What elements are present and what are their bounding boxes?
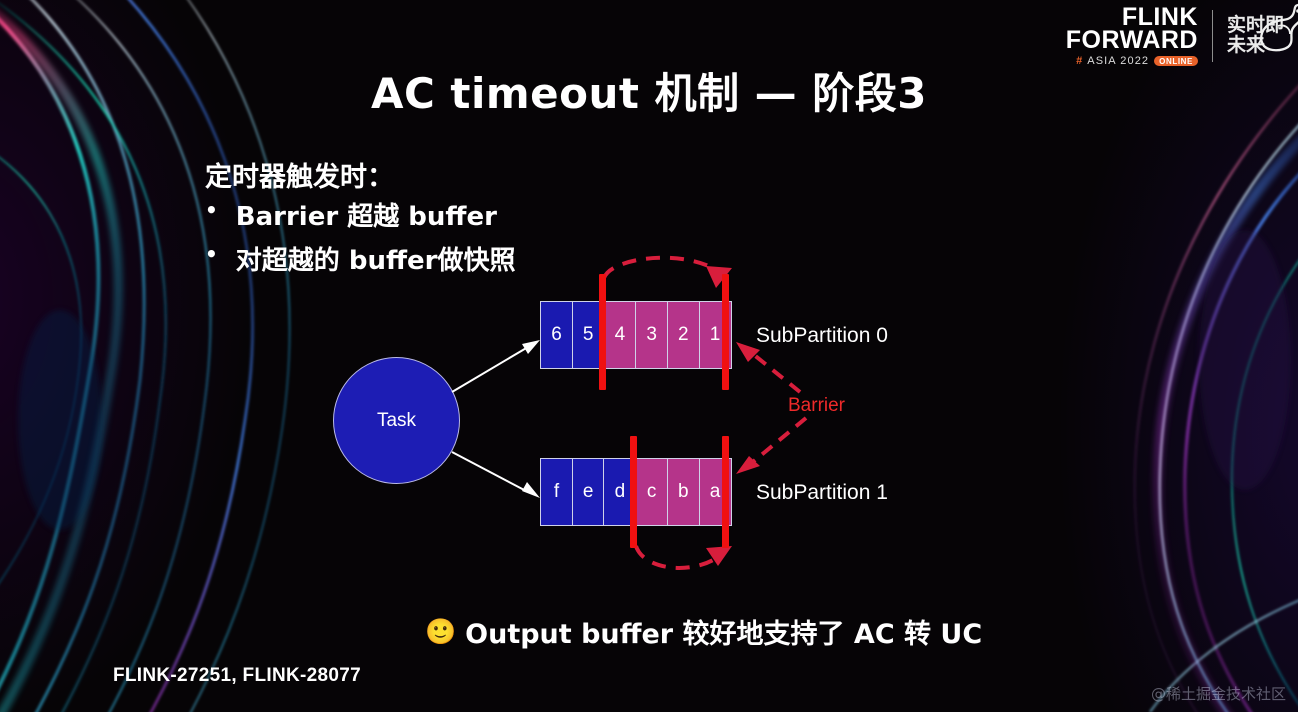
buffer-cell: 6 bbox=[540, 301, 573, 369]
task-node: Task bbox=[333, 357, 460, 484]
arrowhead-icon bbox=[522, 340, 540, 354]
barrier-label: Barrier bbox=[788, 395, 845, 417]
jira-tickets: FLINK-27251, FLINK-28077 bbox=[113, 665, 361, 687]
footnote: 🙂 Output buffer 较好地支持了 AC 转 UC bbox=[425, 612, 982, 651]
barrier-bar bbox=[722, 274, 729, 390]
watermark: @稀土掘金技术社区 bbox=[1151, 683, 1286, 704]
slightly-smiling-face-icon: 🙂 bbox=[425, 617, 456, 647]
arrowhead-icon bbox=[522, 482, 540, 498]
buffer-cell: 3 bbox=[635, 301, 668, 369]
buffer-cell: 4 bbox=[603, 301, 636, 369]
buffer-diagram: Task bbox=[0, 0, 1298, 712]
subpartition-1-label: SubPartition 1 bbox=[756, 481, 888, 505]
buffer-cell: e bbox=[572, 458, 605, 526]
buffer-cell: c bbox=[635, 458, 668, 526]
barrier-bar bbox=[599, 274, 606, 390]
barrier-bar bbox=[630, 436, 637, 548]
footnote-text: Output buffer 较好地支持了 AC 转 UC bbox=[465, 612, 982, 651]
arrowhead-icon bbox=[736, 456, 760, 474]
buffer-cell: 2 bbox=[667, 301, 700, 369]
subpartition-0-buffers: 654321 bbox=[540, 301, 730, 369]
subpartition-0-label: SubPartition 0 bbox=[756, 324, 888, 348]
buffer-cell: f bbox=[540, 458, 573, 526]
slide-root: FLINK FORWARD # ASIA 2022 ONLINE 实时即 未来 … bbox=[0, 0, 1298, 712]
buffer-cell: b bbox=[667, 458, 700, 526]
arrowhead-icon bbox=[706, 546, 732, 566]
task-label: Task bbox=[377, 410, 416, 432]
barrier-bar bbox=[722, 436, 729, 548]
